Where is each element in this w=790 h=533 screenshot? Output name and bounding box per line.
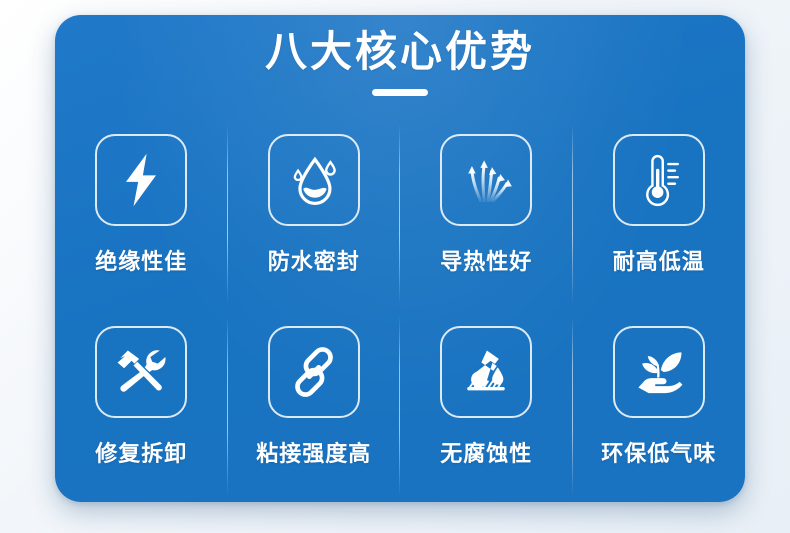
- features-grid: 绝缘性佳 防水密封: [55, 118, 745, 502]
- feature-item-insulation[interactable]: 绝缘性佳: [55, 118, 228, 310]
- feature-label: 绝缘性佳: [95, 244, 187, 276]
- feature-item-repair[interactable]: 修复拆卸: [55, 310, 228, 502]
- chain-link-icon: [284, 342, 344, 402]
- icon-frame: [268, 134, 360, 226]
- page-root: 八大核心优势 绝缘性佳: [0, 0, 790, 533]
- heat-arrows-icon: [456, 150, 516, 210]
- icon-frame: [95, 326, 187, 418]
- advantages-card: 八大核心优势 绝缘性佳: [55, 15, 745, 502]
- feature-label: 导热性好: [440, 244, 532, 276]
- feature-item-non-corrosive[interactable]: 无腐蚀性: [400, 310, 573, 502]
- feature-item-bond-strength[interactable]: 粘接强度高: [228, 310, 401, 502]
- feature-item-eco-friendly[interactable]: 环保低气味: [573, 310, 746, 502]
- icon-frame: [440, 134, 532, 226]
- feature-item-thermal-conductivity[interactable]: 导热性好: [400, 118, 573, 310]
- feature-label: 防水密封: [268, 244, 360, 276]
- feature-label: 耐高低温: [613, 244, 705, 276]
- feature-label: 粘接强度高: [256, 436, 371, 468]
- feature-label: 修复拆卸: [95, 436, 187, 468]
- page-title: 八大核心优势: [55, 29, 745, 75]
- icon-frame: [613, 134, 705, 226]
- lightning-bolt-icon: [111, 150, 171, 210]
- feature-item-waterproof[interactable]: 防水密封: [228, 118, 401, 310]
- icon-frame: [440, 326, 532, 418]
- icon-frame: [613, 326, 705, 418]
- card-header: 八大核心优势: [55, 29, 745, 96]
- feature-item-temperature-resistance[interactable]: 耐高低温: [573, 118, 746, 310]
- hand-plant-icon: [629, 342, 689, 402]
- icon-frame: [268, 326, 360, 418]
- water-droplet-icon: [284, 150, 344, 210]
- icon-frame: [95, 134, 187, 226]
- title-underline-rule: [372, 89, 428, 96]
- thermometer-icon: [629, 150, 689, 210]
- hammer-wrench-icon: [111, 342, 171, 402]
- feature-label: 无腐蚀性: [440, 436, 532, 468]
- test-tube-drop-icon: [456, 342, 516, 402]
- feature-label: 环保低气味: [601, 436, 716, 468]
